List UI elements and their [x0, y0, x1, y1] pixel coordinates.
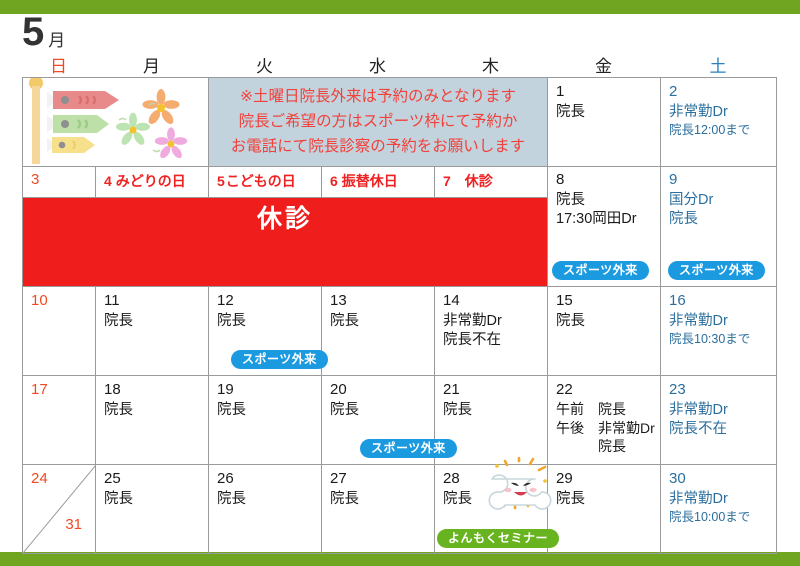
day-entry: 院長 [443, 490, 547, 509]
day-cell-27[interactable]: 27 院長 [322, 465, 435, 554]
day-number: 2 [669, 83, 776, 102]
koinobori-icon [23, 78, 208, 166]
day-number: 29 [556, 470, 660, 489]
day-cell-11[interactable]: 11 院長 [96, 287, 209, 376]
day-number: 30 [669, 470, 776, 489]
day-cell-20[interactable]: 20 院長 スポーツ外来 [322, 376, 435, 465]
morning-label: 午前 [556, 400, 598, 419]
day-number: 16 [669, 292, 776, 311]
day-cell-30[interactable]: 30 非常勤Dr 院長10:00まで [661, 465, 777, 554]
day-cell-9[interactable]: 9 国分Dr 院長 スポーツ外来 [661, 167, 777, 287]
day-cell-14[interactable]: 14 非常勤Dr 院長不在 [435, 287, 548, 376]
day-entry: 院長 [330, 312, 434, 331]
day-cell-10[interactable]: 10 [23, 287, 96, 376]
day-number: 4 [104, 173, 112, 191]
day-cell-25[interactable]: 25 院長 [96, 465, 209, 554]
holiday-label: みどりの日 [116, 171, 186, 191]
day-entry-afternoon: 午後 非常勤Dr [556, 419, 660, 438]
day-entry-note: 院長10:30まで [669, 331, 776, 348]
day-entry: 院長不在 [669, 420, 776, 439]
day-number: 11 [104, 292, 208, 311]
day-number: 6 [330, 173, 338, 191]
day-entry: 非常勤Dr [669, 490, 776, 509]
day-entry: 院長 [330, 401, 434, 420]
day-number: 5 [217, 173, 225, 191]
day-entry: 非常勤Dr [669, 401, 776, 420]
notice-line-2: 院長ご希望の方はスポーツ枠にて予約か [213, 109, 543, 134]
flower-decoration-icon [23, 78, 208, 166]
notice-banner: ※土曜日院長外来は予約のみとなります 院長ご希望の方はスポーツ枠にて予約か お電… [209, 78, 548, 167]
day-number: 26 [217, 470, 321, 489]
day-cell-28[interactable]: 28 院長 [435, 465, 548, 554]
day-cell-18[interactable]: 18 院長 [96, 376, 209, 465]
day-cell-29[interactable]: 29 院長 [548, 465, 661, 554]
day-entry: 国分Dr [669, 191, 776, 210]
sports-clinic-badge[interactable]: スポーツ外来 [552, 261, 649, 280]
decoration-cell-koinobori [23, 78, 209, 167]
sports-clinic-badge[interactable]: スポーツ外来 [231, 350, 328, 369]
afternoon-label: 午後 [556, 419, 598, 438]
day-number: 9 [669, 171, 776, 190]
day-number: 12 [217, 292, 321, 311]
day-entry: 院長 [556, 191, 660, 210]
day-entry: 院長 [556, 103, 660, 122]
sports-clinic-badge[interactable]: スポーツ外来 [360, 439, 457, 458]
day-number: 28 [443, 470, 547, 489]
day-number-31: 31 [65, 516, 82, 533]
day-entry: 院長 [217, 312, 321, 331]
holiday-label: 休診 [465, 171, 493, 191]
day-number: 7 [443, 173, 451, 191]
calendar-page: 5 月 日 月 火 水 木 金 土 [0, 0, 800, 566]
day-number: 1 [556, 83, 660, 102]
closed-banner-label: 休診 [23, 198, 547, 240]
day-entry: 院長 [104, 401, 208, 420]
day-number: 17 [31, 381, 95, 400]
day-entry-note: 院長12:00まで [669, 122, 776, 139]
day-entry: 院長 [217, 490, 321, 509]
top-green-bar [0, 0, 800, 14]
morning-value: 院長 [598, 400, 626, 419]
day-cell-1[interactable]: 1 院長 [548, 78, 661, 167]
spacer [556, 437, 598, 456]
closed-banner-cell: 休診 [23, 198, 548, 287]
day-entry: 院長 [669, 210, 776, 229]
calendar-week-row-4: 17 18 院長 19 院長 20 院 [23, 376, 777, 465]
day-number: 19 [217, 381, 321, 400]
day-cell-17[interactable]: 17 [23, 376, 96, 465]
day-cell-6[interactable]: 6 振替休日 [322, 167, 435, 198]
day-cell-23[interactable]: 23 非常勤Dr 院長不在 [661, 376, 777, 465]
day-entry: 院長 [556, 312, 660, 331]
day-number: 14 [443, 292, 547, 311]
day-entry: 非常勤Dr [669, 312, 776, 331]
day-number: 21 [443, 381, 547, 400]
day-number: 10 [31, 292, 95, 311]
holiday-label: 振替休日 [342, 171, 398, 191]
day-cell-7[interactable]: 7 休診 [435, 167, 548, 198]
day-entry: 院長 [104, 490, 208, 509]
day-entry-morning: 午前 院長 [556, 400, 660, 419]
calendar-week-row-2-dates: 3 4 みどりの日 5 こどもの日 6 [23, 167, 777, 198]
day-cell-5[interactable]: 5 こどもの日 [209, 167, 322, 198]
day-number: 25 [104, 470, 208, 489]
day-entry: 院長 [217, 401, 321, 420]
day-entry: 非常勤Dr [669, 103, 776, 122]
day-entry: 非常勤Dr [443, 312, 547, 331]
bottom-green-bar [0, 552, 800, 566]
day-entry: 院長 [556, 490, 660, 509]
day-entry: 院長 [330, 490, 434, 509]
day-number: 27 [330, 470, 434, 489]
day-cell-19[interactable]: 19 院長 [209, 376, 322, 465]
day-cell-3[interactable]: 3 [23, 167, 96, 198]
day-number: 22 [556, 381, 660, 400]
day-cell-24-31[interactable]: 24 31 [23, 465, 96, 554]
day-cell-22[interactable]: 22 午前 院長 午後 非常勤Dr [548, 376, 661, 465]
day-entry-afternoon-2: 院長 [556, 437, 660, 456]
calendar-week-row-1: ※土曜日院長外来は予約のみとなります 院長ご希望の方はスポーツ枠にて予約か お電… [23, 78, 777, 167]
day-number: 8 [556, 171, 660, 190]
day-number: 13 [330, 292, 434, 311]
day-number: 18 [104, 381, 208, 400]
day-entry: 院長 [443, 401, 547, 420]
day-cell-15[interactable]: 15 院長 [548, 287, 661, 376]
day-cell-4[interactable]: 4 みどりの日 [96, 167, 209, 198]
notice-line-1: ※土曜日院長外来は予約のみとなります [213, 84, 543, 109]
calendar-week-row-5: 24 31 25 院長 26 院長 [23, 465, 777, 554]
day-number: 15 [556, 292, 660, 311]
holiday-label: こどもの日 [226, 171, 296, 191]
calendar-table: ※土曜日院長外来は予約のみとなります 院長ご希望の方はスポーツ枠にて予約か お電… [22, 77, 777, 554]
day-cell-13[interactable]: 13 院長 [322, 287, 435, 376]
page-title: 5 月 [22, 12, 65, 52]
day-cell-12[interactable]: 12 院長 スポーツ外来 [209, 287, 322, 376]
day-entry: 院長 [104, 312, 208, 331]
day-cell-2[interactable]: 2 非常勤Dr 院長12:00まで [661, 78, 777, 167]
seminar-badge[interactable]: よんもくセミナー [437, 529, 559, 548]
afternoon-value: 非常勤Dr [598, 419, 655, 438]
calendar-week-row-3: 10 11 院長 12 院長 スポーツ外来 [23, 287, 777, 376]
month-number: 5 [22, 12, 43, 52]
split-diagonal-icon [23, 465, 95, 553]
month-kanji-label: 月 [48, 32, 65, 49]
day-number: 20 [330, 381, 434, 400]
day-entry: 院長不在 [443, 331, 547, 350]
day-cell-26[interactable]: 26 院長 [209, 465, 322, 554]
day-entry: 17:30岡田Dr [556, 210, 660, 229]
day-number: 3 [31, 171, 95, 190]
afternoon-value-2: 院長 [598, 437, 626, 456]
day-cell-8[interactable]: 8 院長 17:30岡田Dr スポーツ外来 [548, 167, 661, 287]
day-entry-note: 院長10:00まで [669, 509, 776, 526]
sports-clinic-badge[interactable]: スポーツ外来 [668, 261, 765, 280]
day-number: 23 [669, 381, 776, 400]
day-cell-16[interactable]: 16 非常勤Dr 院長10:30まで [661, 287, 777, 376]
notice-line-3: お電話にて院長診察の予約をお願いします [213, 134, 543, 159]
